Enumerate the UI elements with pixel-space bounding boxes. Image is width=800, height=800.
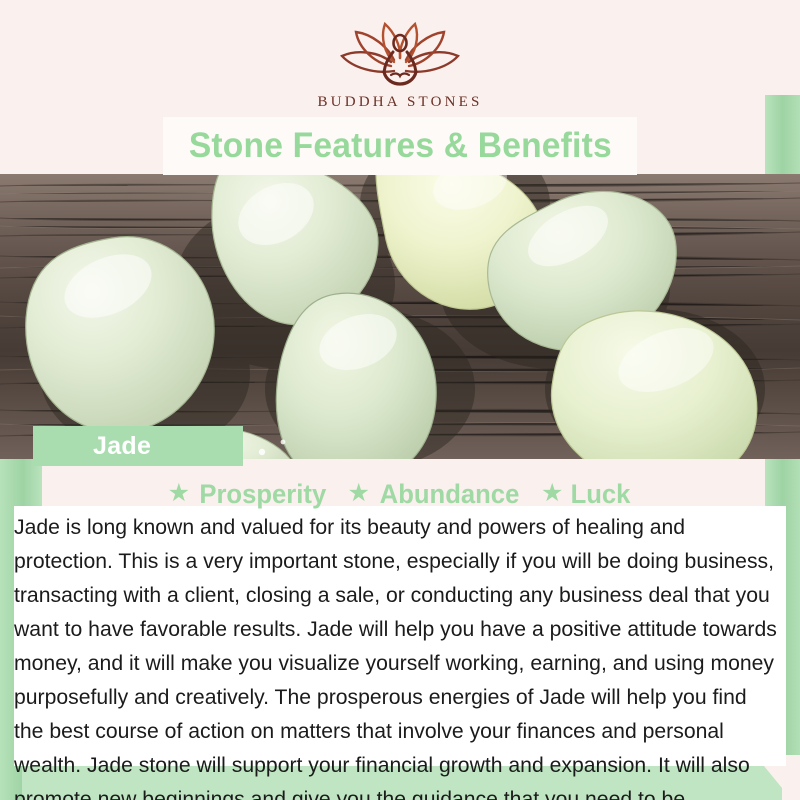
benefit-label: Abundance [380, 479, 520, 510]
stone-photo [0, 174, 800, 459]
stone-info-card: BUDDHA STONES [0, 0, 800, 800]
benefits-row: ★ Prosperity ★ Abundance ★ Luck [0, 479, 800, 510]
benefit-label: Luck [571, 479, 631, 510]
benefit-label: Prosperity [199, 479, 326, 510]
star-icon: ★ [541, 481, 563, 506]
benefit-item-prosperity: ★ Prosperity [168, 479, 330, 510]
brand-wordmark: BUDDHA STONES [0, 94, 800, 111]
star-icon: ★ [168, 481, 190, 506]
stone-name-label: Jade [33, 426, 243, 466]
description-text: Jade is long known and valued for its be… [14, 510, 777, 800]
benefit-item-luck: ★ Luck [541, 479, 632, 510]
star-icon: ★ [348, 481, 370, 506]
brand-logo: BUDDHA STONES [0, 16, 800, 111]
benefit-item-abundance: ★ Abundance [348, 479, 523, 510]
lotus-meditation-icon [331, 16, 469, 88]
section-title-card: Stone Features & Benefits [163, 117, 637, 175]
description-block: Jade is long known and valued for its be… [14, 510, 789, 800]
page-title: Stone Features & Benefits [188, 126, 611, 166]
stone-name-text: Jade [93, 432, 151, 461]
jade-stones-image [0, 174, 800, 459]
